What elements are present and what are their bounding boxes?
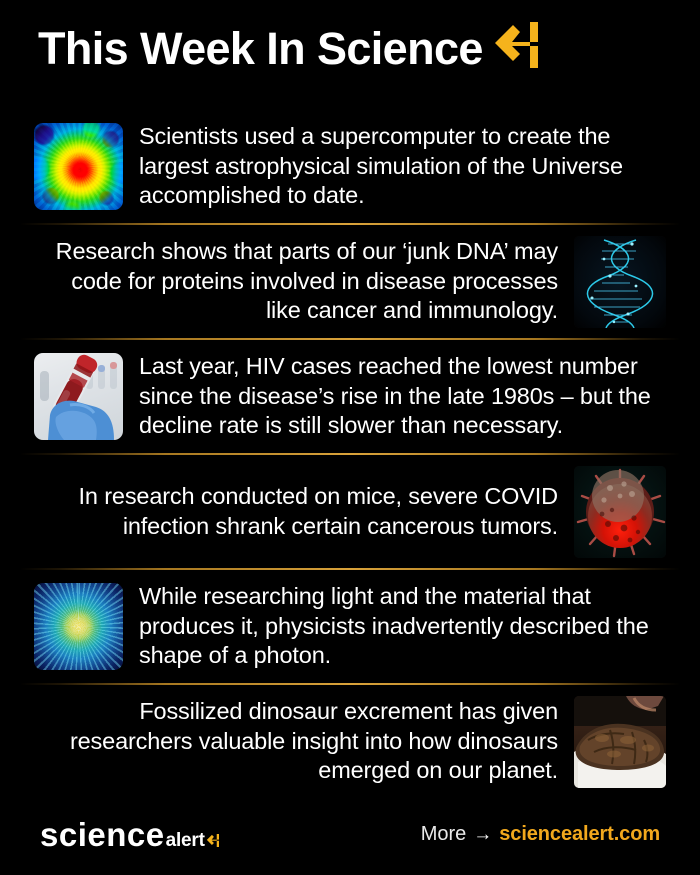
news-item-2[interactable]: Research shows that parts of our ‘junk D…	[34, 225, 666, 338]
news-item-1[interactable]: Scientists used a supercomputer to creat…	[34, 110, 666, 223]
fossilized-dinosaur-excrement-thumbnail	[574, 696, 666, 788]
news-item-6[interactable]: Fossilized dinosaur excrement has given …	[34, 685, 666, 798]
news-item-3[interactable]: Last year, HIV cases reached the lowest …	[34, 340, 666, 453]
cosmological-simulation-heatmap-thumbnail	[34, 123, 123, 210]
blood-test-tube-thumbnail	[34, 353, 123, 440]
science-news-card: This Week In Science Scientists used a s…	[0, 0, 700, 875]
news-item-caption: Last year, HIV cases reached the lowest …	[139, 352, 666, 441]
more-link[interactable]: More → sciencealert.com	[421, 823, 660, 846]
more-label: More	[421, 823, 467, 846]
logo-primary-text: science	[40, 818, 165, 851]
news-item-caption: While researching light and the material…	[139, 582, 666, 671]
news-item-caption: Scientists used a supercomputer to creat…	[139, 122, 666, 211]
arrow-down-left-icon	[492, 20, 538, 75]
logo-secondary-text: alert	[166, 831, 205, 850]
card-footer: science alert More → sciencealert.com	[0, 801, 700, 875]
news-item-caption: In research conducted on mice, severe CO…	[34, 482, 558, 541]
news-item-caption: Fossilized dinosaur excrement has given …	[34, 697, 558, 786]
sciencealert-logo[interactable]: science alert	[40, 818, 219, 851]
news-item-4[interactable]: In research conducted on mice, severe CO…	[34, 455, 666, 568]
news-item-caption: Research shows that parts of our ‘junk D…	[34, 237, 558, 326]
website-domain: sciencealert.com	[499, 823, 660, 846]
right-arrow-icon: →	[473, 824, 492, 846]
news-item-5[interactable]: While researching light and the material…	[34, 570, 666, 683]
arrow-down-left-icon	[206, 833, 219, 853]
news-item-list: Scientists used a supercomputer to creat…	[0, 110, 700, 798]
dna-double-helix-thumbnail	[574, 236, 666, 328]
page-title: This Week In Science	[38, 26, 483, 71]
card-header: This Week In Science	[0, 0, 700, 110]
photon-visualization-thumbnail	[34, 583, 123, 670]
cancer-cell-thumbnail	[574, 466, 666, 558]
